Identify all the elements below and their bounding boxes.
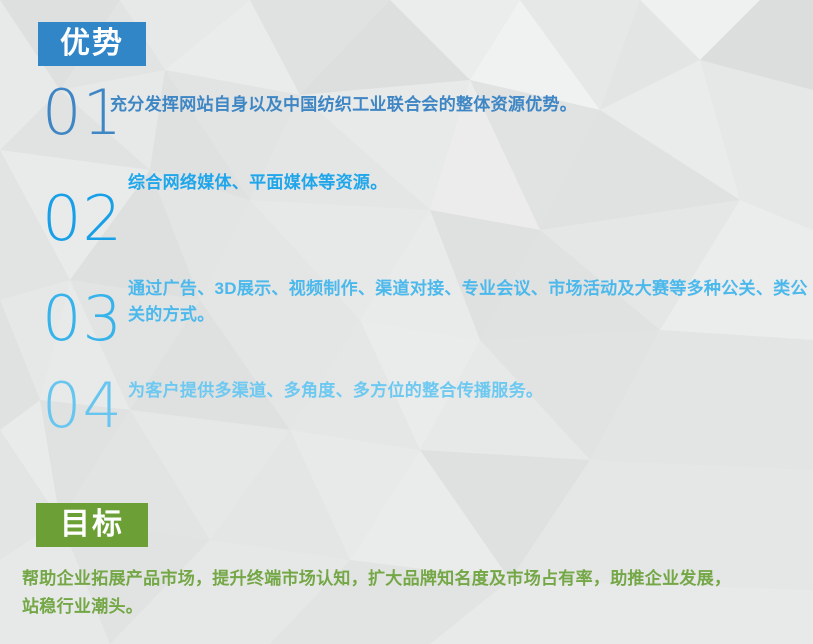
goal-paragraph: 帮助企业拓展产品市场，提升终端市场认知，扩大品牌知名度及市场占有率，助推企业发展… — [22, 565, 732, 621]
advantages-section-badge: 优势 — [38, 22, 146, 66]
advantage-item-04-number: 04 — [42, 375, 123, 437]
advantage-item-03-text: 通过广告、3D展示、视频制作、渠道对接、专业会议、市场活动及大赛等多种公关、类公… — [128, 276, 808, 328]
advantage-item-02-text: 综合网络媒体、平面媒体等资源。 — [128, 170, 808, 196]
advantage-item-04-text: 为客户提供多渠道、多角度、多方位的整合传播服务。 — [128, 378, 808, 404]
advantage-item-03-number: 03 — [42, 288, 123, 350]
slide-content: 优势 01 充分发挥网站自身以及中国纺织工业联合会的整体资源优势。 02 综合网… — [0, 0, 813, 644]
advantage-item-02-number: 02 — [42, 188, 123, 250]
presentation-slide: 优势 01 充分发挥网站自身以及中国纺织工业联合会的整体资源优势。 02 综合网… — [0, 0, 813, 644]
goal-section-badge: 目标 — [36, 503, 148, 547]
advantage-item-01-text: 充分发挥网站自身以及中国纺织工业联合会的整体资源优势。 — [110, 92, 800, 118]
